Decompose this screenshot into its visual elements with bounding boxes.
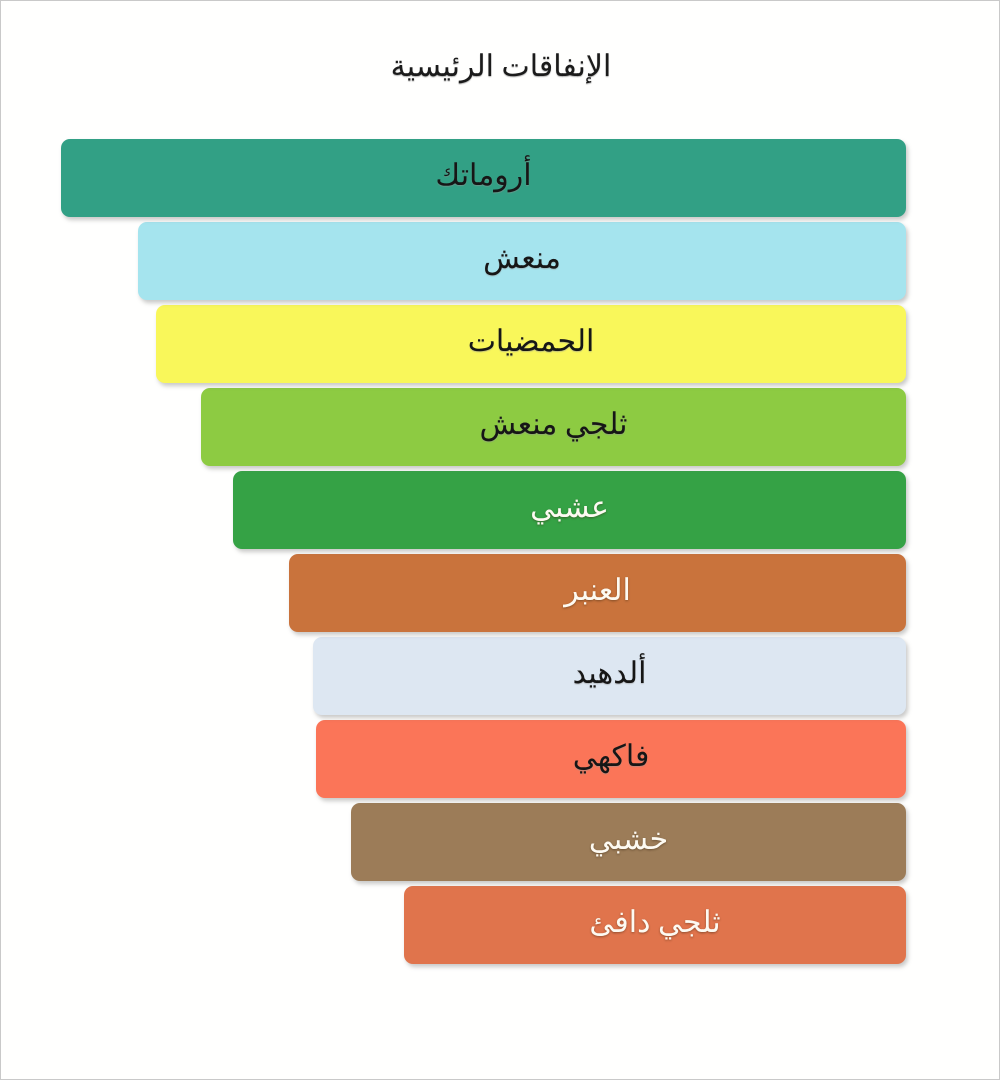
page-title: الإنفاقات الرئيسية bbox=[1, 49, 1000, 84]
funnel-segment[interactable]: عشبي bbox=[233, 471, 906, 549]
funnel-segment-label: الحمضيات bbox=[468, 327, 595, 361]
funnel-segment-label: عشبي bbox=[530, 493, 609, 527]
funnel-segment-label: العنبر bbox=[564, 576, 631, 610]
funnel-segment[interactable]: منعش bbox=[138, 222, 906, 300]
funnel-segment-label: فاكهي bbox=[573, 742, 650, 776]
funnel-segment[interactable]: الحمضيات bbox=[156, 305, 906, 383]
funnel-segment-label: ألدهيد bbox=[573, 659, 647, 693]
funnel-segment-label: ثلجي دافئ bbox=[589, 908, 720, 942]
funnel-segment-label: ثلجي منعش bbox=[480, 410, 628, 444]
funnel-segment[interactable]: ثلجي منعش bbox=[201, 388, 906, 466]
funnel-segment-label: خشبي bbox=[589, 825, 668, 859]
funnel-segment[interactable]: أروماتك bbox=[61, 139, 906, 217]
funnel-segment[interactable]: ثلجي دافئ bbox=[404, 886, 906, 964]
funnel-segment[interactable]: خشبي bbox=[351, 803, 906, 881]
chart-canvas: الإنفاقات الرئيسية أروماتكمنعشالحمضياتثل… bbox=[0, 0, 1000, 1080]
funnel-segment[interactable]: فاكهي bbox=[316, 720, 906, 798]
funnel-segment-label: أروماتك bbox=[435, 161, 531, 195]
funnel-segment[interactable]: ألدهيد bbox=[313, 637, 906, 715]
funnel-segment[interactable]: العنبر bbox=[289, 554, 906, 632]
funnel-segment-label: منعش bbox=[483, 244, 561, 278]
funnel-chart: أروماتكمنعشالحمضياتثلجي منعشعشبيالعنبرأل… bbox=[1, 139, 1000, 989]
